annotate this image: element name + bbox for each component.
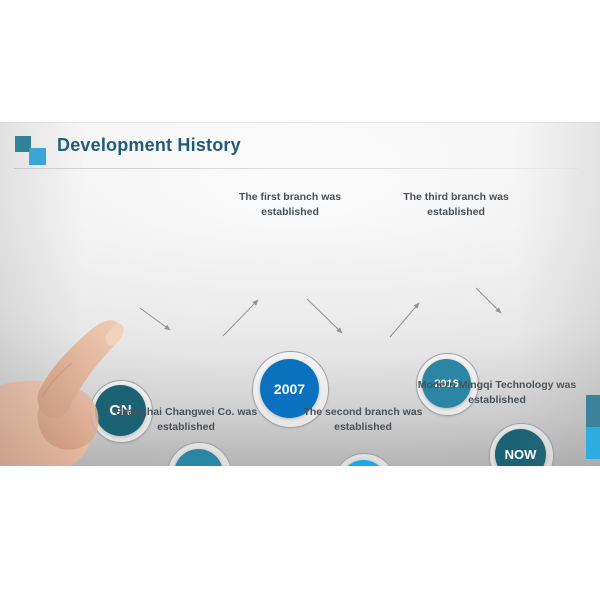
accent-bar-teal bbox=[586, 395, 600, 427]
accent-bar-cyan bbox=[586, 427, 600, 459]
node-label: 2007 bbox=[274, 381, 305, 397]
node-label: NOW bbox=[505, 447, 537, 462]
label-2016: The third branch was established bbox=[378, 190, 534, 220]
hand-pointing-icon bbox=[0, 285, 158, 466]
label-now: Modern Mingqi Technology was established bbox=[404, 378, 590, 408]
label-2013: The second branch was established bbox=[277, 405, 449, 435]
slide-canvas: Development History ON 2003 bbox=[0, 122, 600, 466]
label-2007: The first branch was established bbox=[212, 190, 368, 220]
